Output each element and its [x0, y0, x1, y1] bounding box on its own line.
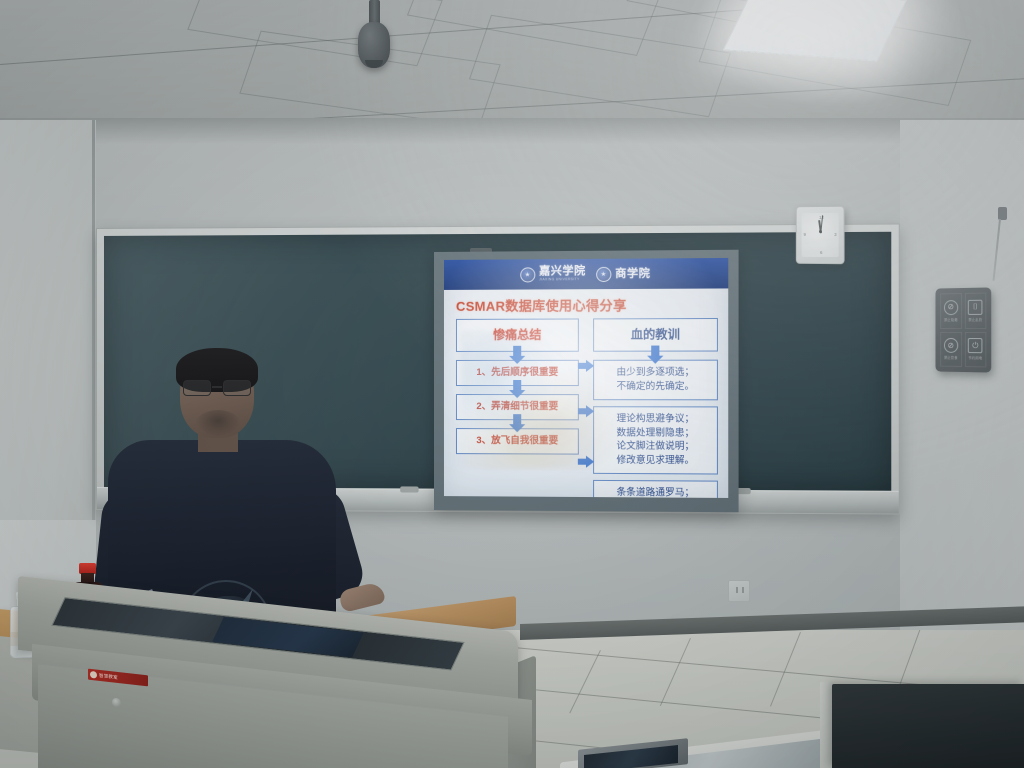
- school-seal-icon: ★: [596, 266, 611, 281]
- no-eating-icon: ⊘: [944, 338, 958, 353]
- classroom-photo: ★ 嘉兴学院 JIAXING UNIVERSITY ★ 商学院 CSMAR数据库…: [0, 0, 1024, 768]
- wall-rules-sign: ⊘ 禁止吸烟 ⌷ 禁止乱扔 ⊘ 禁止饮食 ⏻ 节约用电: [935, 287, 991, 372]
- arrow-right-icon: [578, 407, 594, 417]
- slide-banner: ★ 嘉兴学院 JIAXING UNIVERSITY ★ 商学院: [444, 258, 728, 290]
- flow-right-item-2: 理论构思避争议； 数据处理剔隐患； 论文脚注做说明； 修改意见求理解。: [593, 406, 718, 474]
- power-off-icon: ⏻: [968, 338, 983, 353]
- flow-right-item-3: 条条道路通罗马； 狡兔还要有三窟。: [593, 480, 718, 498]
- clock-center-pin: [819, 230, 822, 233]
- sign-label: 禁止乱扔: [968, 317, 982, 322]
- no-smoking-icon: ⊘: [944, 300, 958, 315]
- school-name-cn: 商学院: [615, 268, 650, 279]
- sign-cell: ⌷ 禁止乱扔: [964, 293, 986, 329]
- sign-label: 禁止饮食: [944, 355, 958, 360]
- student-desk-row: [560, 700, 1024, 768]
- flow-right-column: 血的教训 由少到多逐项选； 不确定的先确定。 理论构思避争议； 数据处理剔隐患；…: [593, 318, 718, 498]
- arrow-right-icon: [578, 457, 594, 467]
- school-logo: ★ 商学院: [596, 266, 651, 282]
- sign-cell: ⊘ 禁止吸烟: [940, 293, 961, 328]
- no-littering-icon: ⌷: [968, 299, 983, 314]
- university-name-cn: 嘉兴学院: [539, 266, 586, 277]
- projection-screen: ★ 嘉兴学院 JIAXING UNIVERSITY ★ 商学院 CSMAR数据库…: [434, 250, 739, 513]
- wall-top-shadow: [0, 118, 1024, 144]
- right-wall: [900, 120, 1024, 660]
- flow-right-item-1: 由少到多逐项选； 不确定的先确定。: [593, 360, 718, 400]
- university-logo: ★ 嘉兴学院 JIAXING UNIVERSITY: [520, 266, 586, 282]
- lectern: 智慧教室: [14, 588, 534, 768]
- eyeglasses-icon: [182, 380, 252, 396]
- sign-cell: ⊘ 禁止饮食: [940, 331, 961, 366]
- power-outlet[interactable]: [728, 580, 750, 602]
- arrow-right-icon: [578, 361, 594, 371]
- wall-clock: 12 3 6 9: [796, 206, 845, 264]
- clock-tick-9: 9: [804, 232, 806, 237]
- flow-left-column: 惨痛总结 1、先后顺序很重要 2、弄清细节很重要 3、放飞自我很重要: [456, 318, 579, 497]
- university-seal-icon: ★: [520, 267, 535, 282]
- tray-clip: [400, 486, 418, 492]
- slide-title: CSMAR数据库使用心得分享: [456, 295, 728, 315]
- sign-label: 节约用电: [968, 355, 982, 360]
- ceiling: [0, 0, 1024, 130]
- clock-tick-3: 3: [834, 232, 836, 237]
- clock-face: 12 3 6 9: [802, 213, 839, 257]
- lectern-keyhole-icon[interactable]: [112, 697, 121, 707]
- presenter-beard: [196, 410, 240, 436]
- lectern-logo-text: 智慧教室: [99, 672, 118, 680]
- clock-tick-6: 6: [820, 250, 822, 255]
- presentation-slide: ★ 嘉兴学院 JIAXING UNIVERSITY ★ 商学院 CSMAR数据库…: [444, 258, 728, 498]
- brand-mark-icon: [90, 671, 97, 679]
- university-name-en: JIAXING UNIVERSITY: [539, 278, 586, 282]
- student-monitor-right: [832, 684, 1024, 768]
- ceiling-light-panel: [723, 0, 908, 62]
- sign-label: 禁止吸烟: [944, 317, 958, 322]
- sign-cell: ⏻ 节约用电: [964, 332, 986, 368]
